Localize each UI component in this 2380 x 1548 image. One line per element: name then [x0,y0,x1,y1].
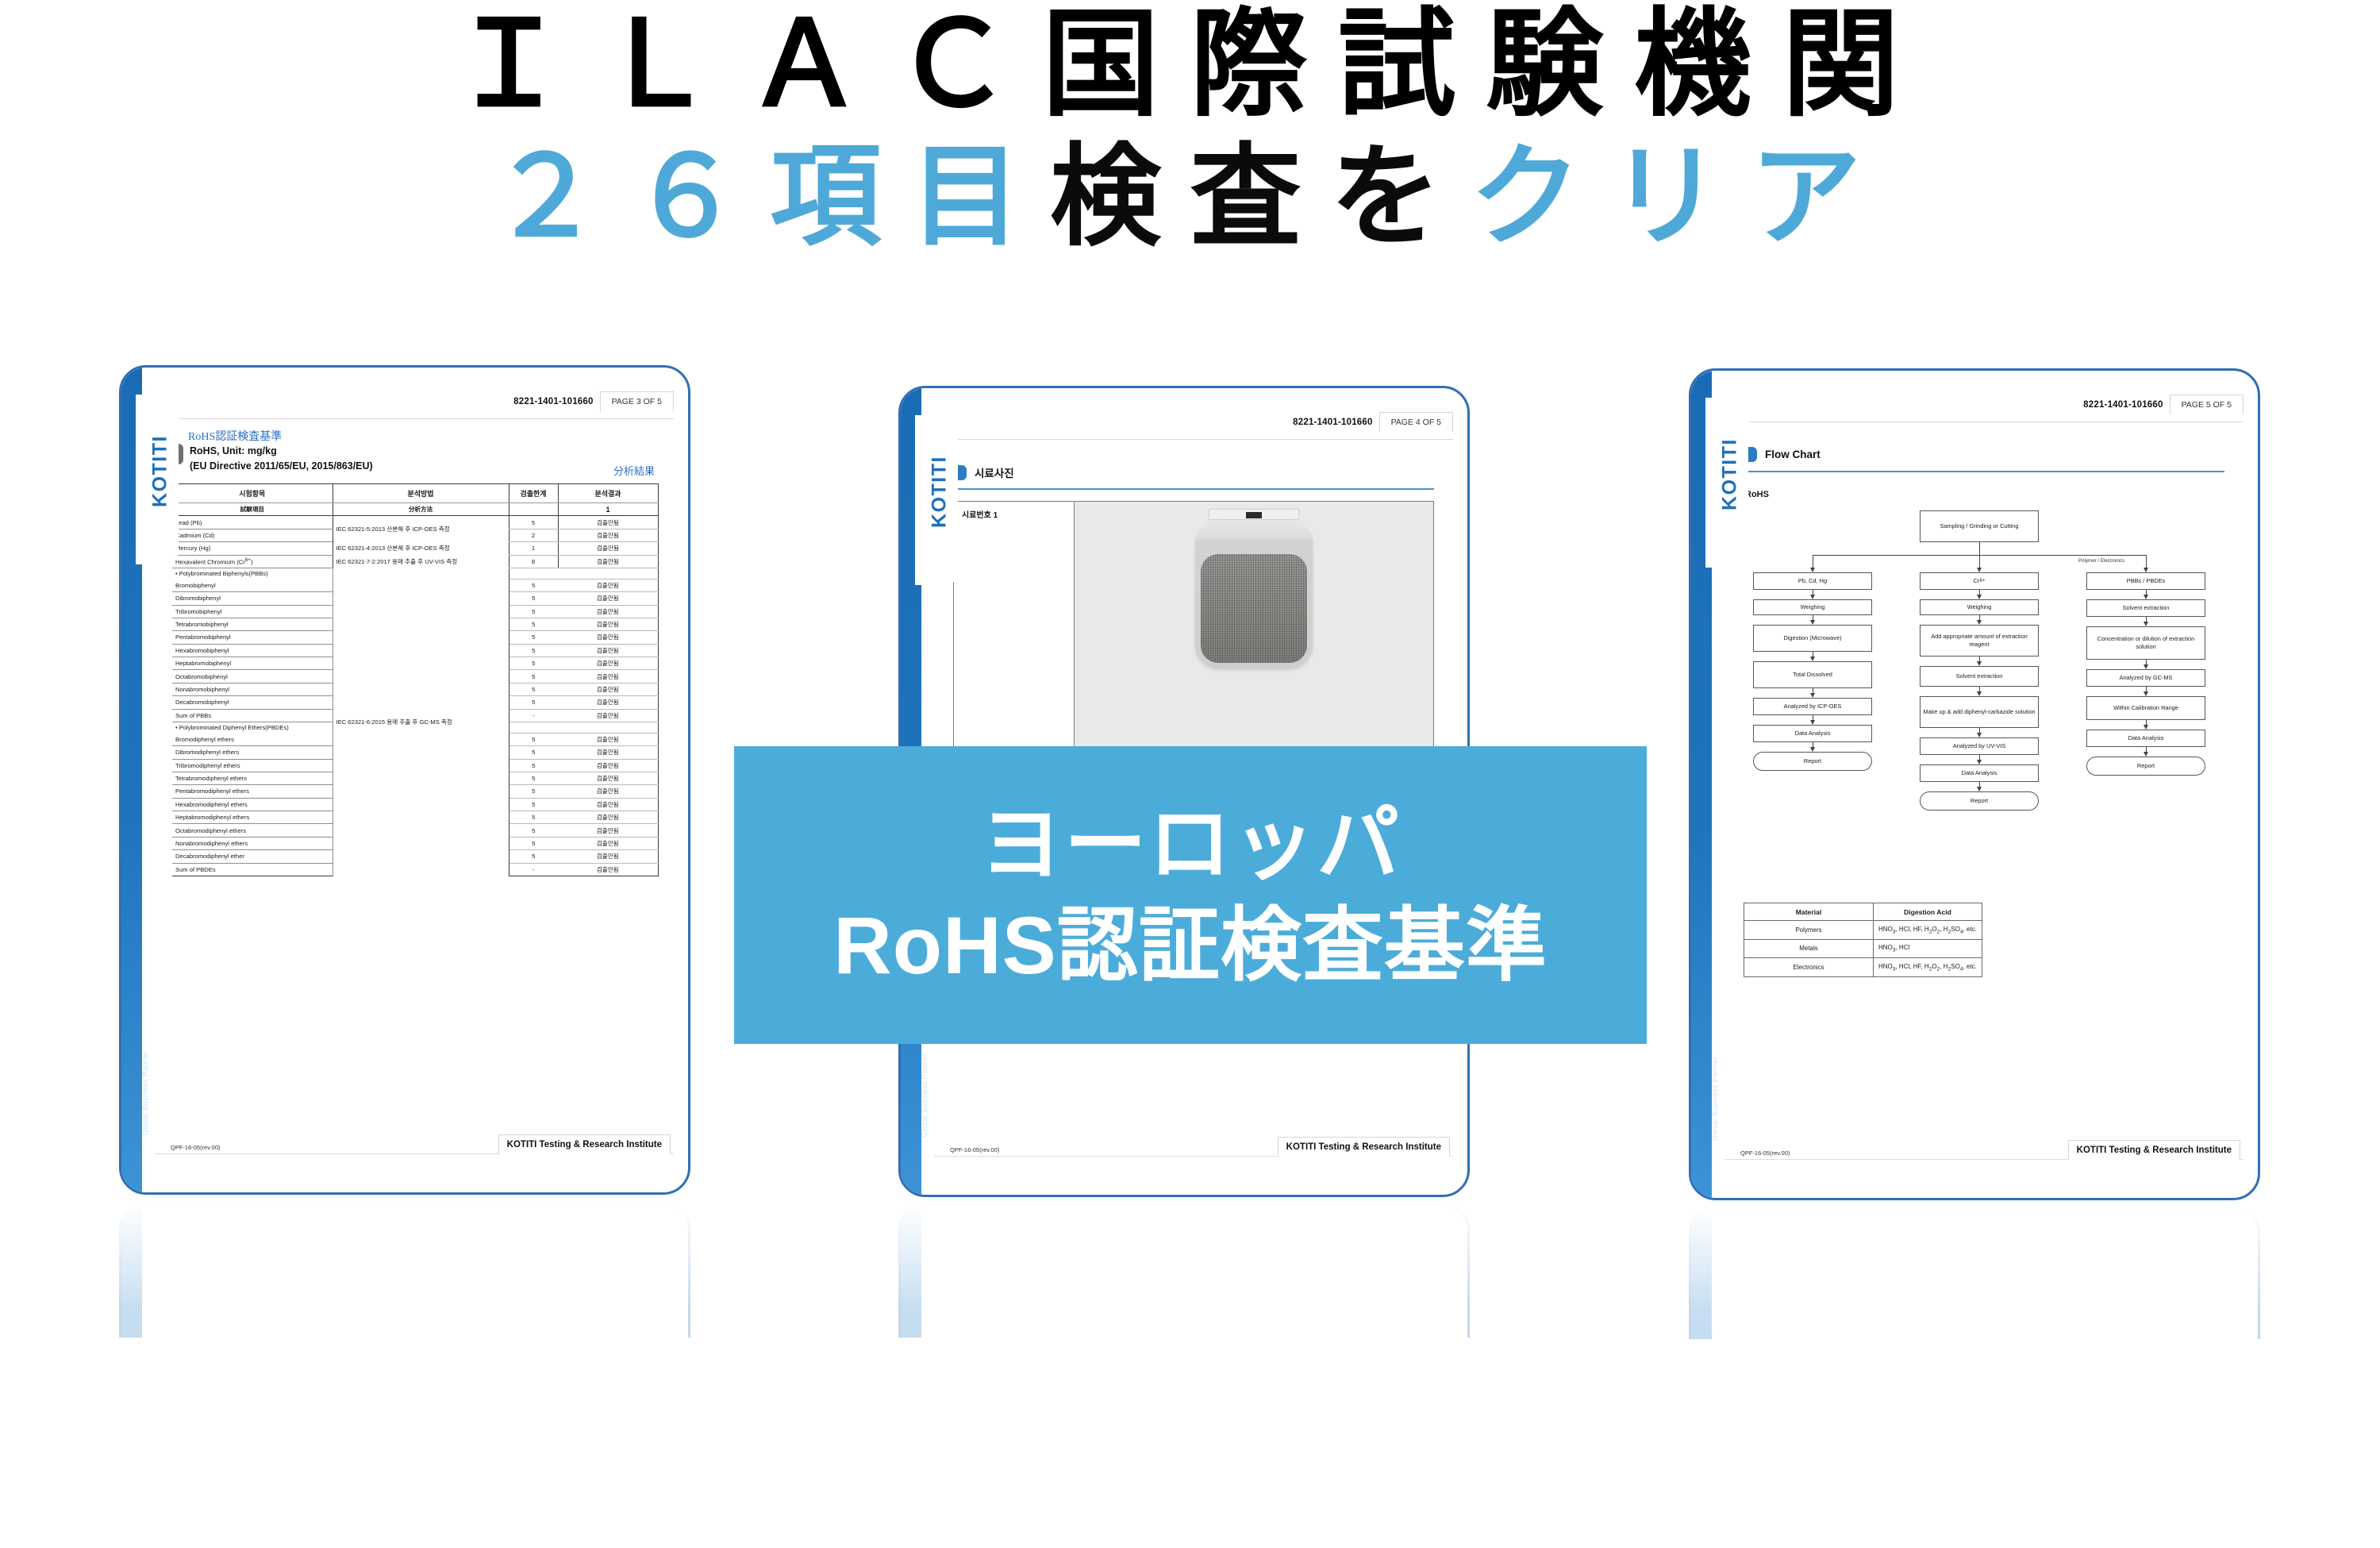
cell-detection-limit: 2 [509,529,558,541]
doc1-reflection-form-code: QPF-16-05(rev.00) [171,1501,220,1508]
kotiti-logo: KOTITI [1719,401,1742,549]
doc3-institute-name: KOTITI Testing & Research Institute [2068,1140,2240,1160]
kotiti-logo: KOTITI [149,398,172,545]
doc2-reflection-spine-label: Global Business Partner [921,1371,929,1466]
flow-box-c2-3: Analyzed by GC-MS [2086,669,2205,687]
cell-test-item: Octabromodiphenyl ethers [172,824,333,837]
flow-line-branch-0 [1813,555,1813,568]
cell-detection-limit: - [509,709,558,722]
cell-material: Polymers [1744,921,1874,940]
doc3-header-rule [1724,422,2244,422]
doc2-reflection-card: Global Business Partner QPF-16-05(rev.00… [898,1203,1470,1544]
cell-detection-limit: 5 [509,696,558,709]
cell-test-item: Tribromodiphenyl ethers [172,759,333,772]
doc3-scheme-label: RoHS [1745,490,1769,499]
doc2-report-number: 8221-1401-101660 [1293,414,1378,431]
doc2-section-header: 시료사진 [953,464,1014,480]
cell-analysis-result: 검출안됨 [558,759,658,772]
acid-col-acid: Digestion Acid [1874,903,1982,921]
doc1-page: 8221-1401-101660 PAGE 3 OF 5 RoHS認証検査基準 … [142,368,688,1192]
flow-box-c0-1: Weighing [1753,599,1872,615]
cell-test-item: Nonabromodiphenyl ethers [172,837,333,849]
cell-detection-limit: 5 [509,798,558,811]
cell-test-item: Mercury (Hg) [172,542,333,555]
flow-box-c1-3: Solvent extraction [1920,666,2039,687]
cell-detection-limit: 5 [509,579,558,591]
headline-26-items: ２６項目 [490,134,1050,259]
cell-analysis-result: 검출안됨 [558,772,658,784]
cell-analysis-result: 검출안됨 [558,529,658,541]
doc1-institute-name: KOTITI Testing & Research Institute [498,1134,671,1154]
digestion-acid-table: Material Digestion Acid PolymersHNO3, HC… [1744,903,1982,977]
doc1-form-code: QPF-16-05(rev.00) [171,1144,220,1151]
cell-detection-limit: 5 [509,759,558,772]
sample-number-label: 시료번호 1 [954,502,1075,780]
doc1-unit-info: RoHS, Unit: mg/kg (EU Directive 2011/65/… [190,444,373,474]
flow-box-c1-6: Data Analysis [1920,764,2039,782]
cell-method: IEC 62321-4:2013 산분해 후 ICP-OES 측정 [333,542,509,555]
flow-line-branch-2 [2146,555,2147,568]
cell-analysis-result: 검출안됨 [558,644,658,657]
flow-box-c2-2: Concentration or dilution of extraction … [2086,626,2205,660]
flow-box-c1-1: Weighing [1920,599,2039,615]
flow-box-c1-0: Cr6+ [1920,572,2039,590]
cell-detection-limit: 5 [509,592,558,605]
group-label-pbde: • Polybrominated Diphenyl Ethers(PBDEs) [172,722,333,733]
cell-test-item: Pentabromodiphenyl ethers [172,785,333,798]
cell-detection-limit: 1 [509,542,558,555]
cell-material: Electronics [1744,958,1874,977]
cell-test-item: Heptabromodiphenyl ethers [172,811,333,824]
cell-test-item: Dibromobiphenyl [172,592,333,605]
table-header-row: 시험항목 분석방법 검출한계 분석결과 [172,484,658,503]
cell-test-item: Pentabromobiphenyl [172,631,333,644]
cell-analysis-result: 검출안됨 [558,670,658,683]
cell-test-item: Dibromodiphenyl ethers [172,746,333,759]
cell-detection-limit [509,722,558,733]
cell-test-item: Bromobiphenyl [172,579,333,591]
doc2-reflection-institute: KOTITI Testing & Research Institute [1278,1494,1450,1513]
cell-analysis-result: 검출안됨 [558,798,658,811]
cell-detection-limit: 5 [509,785,558,798]
doc1-reflection-spine: Global Business Partner [121,1205,142,1542]
doc2-section-rule [953,488,1434,490]
doc1-jp-title: RoHS認証検査基準 [188,428,282,444]
flow-box-c0-4: Analyzed by ICP-OES [1753,698,1872,715]
doc1-reflection: Global Business Partner QPF-16-05(rev.00… [119,1203,690,1338]
cell-analysis-result: 검출안됨 [558,863,658,876]
cell-detection-limit: 5 [509,631,558,644]
sample-specimen-image [1195,521,1313,668]
cell-analysis-result: 검출안됨 [558,657,658,670]
flow-box-c0-0: Pb, Cd, Hg [1753,572,1872,590]
cell-analysis-result: 검출안됨 [558,709,658,722]
cell-detection-limit: 5 [509,670,558,683]
cell-test-item: Nonabromobiphenyl [172,683,333,695]
doc2-page-of: PAGE 4 OF 5 [1379,412,1453,432]
acid-table-row: MetalsHNO3, HCl [1744,939,1982,958]
cell-test-item: Lead (Pb) [172,516,333,529]
col-header-item: 시험항목 [172,484,333,503]
doc3-page: 8221-1401-101660 PAGE 5 OF 5 Flow Chart … [1712,371,2258,1198]
rohs-results-table: 시험항목 분석방법 검출한계 분석결과 試験項目 分析方法 1 Lead (Pb… [172,483,659,876]
flow-box-start: Sampling / Grinding or Cutting [1920,510,2039,542]
doc2-institute-name: KOTITI Testing & Research Institute [1278,1137,1450,1157]
table-header-row-jp: 試験項目 分析方法 1 [172,503,658,516]
flow-box-c1-7: Report [1920,791,2039,811]
doc3-reflection-spine: Global Business Partner [1691,1209,1712,1546]
cell-test-item: Hexavalent Chromium (Cr6+) [172,555,333,568]
sample-number-header: 1 [558,503,658,516]
sample-photo: 82211401101660 [1075,502,1433,780]
doc3-report-number: 8221-1401-101660 [2083,396,2169,414]
cell-test-item: Octabromobiphenyl [172,670,333,683]
headline-line-1: ＩＬＡＣ国際試験機関 [0,6,2380,124]
flow-box-c2-5: Data Analysis [2086,730,2205,747]
doc3-section-header: Flow Chart [1744,447,1821,462]
doc1-unit-line1: RoHS, Unit: mg/kg [190,444,373,459]
cell-detection-limit: 5 [509,644,558,657]
flow-box-c2-4: Within Calibration Range [2086,696,2205,720]
flow-box-c1-5: Analyzed by UV-VIS [1920,737,2039,755]
cell-method: IEC 62321-5:2013 산분해 후 ICP-OES 측정 [333,516,509,542]
headline-block: ＩＬＡＣ国際試験機関 ２６項目検査をクリア [0,0,2380,252]
cell-detection-limit: 5 [509,837,558,849]
cell-test-item: Sum of PBDEs [172,863,333,876]
flow-box-c2-0: PBBs / PBDEs [2086,572,2205,590]
doc2-reflection-form-code: QPF-16-05(rev.00) [950,1501,999,1508]
cell-test-item: Tetrabromobiphenyl [172,618,333,630]
flow-box-c1-2: Add appropriate amount of extraction rea… [1920,625,2039,657]
doc3-reflection-card: Global Business Partner QPF-16-05(rev.00… [1689,1207,2260,1548]
doc2-header-rule [934,439,1453,440]
cell-analysis-result: 검출안됨 [558,696,658,709]
cell-analysis-result: 검출안됨 [558,555,658,568]
rohs-flow-chart: Sampling / Grinding or CuttingPolymer / … [1739,510,2239,884]
sample-photo-frame: 시료번호 1 82211401101660 [953,501,1434,780]
cell-detection-limit: 5 [509,772,558,784]
cell-method-pbb: IEC 62321-6:2015 용매 추출 후 GC-MS 측정 [333,568,509,876]
doc1-analysis-result-jp: 分析結果 [613,463,655,478]
cell-detection-limit: 5 [509,618,558,630]
cell-analysis-result: 검출안됨 [558,516,658,529]
doc1-page-header: 8221-1401-101660 PAGE 3 OF 5 [513,391,674,411]
doc3-section-title: Flow Chart [1765,449,1821,460]
table-row: Lead (Pb)IEC 62321-5:2013 산분해 후 ICP-OES … [172,516,658,529]
acid-table-row: ElectronicsHNO3, HCl, HF, H2O2, H2SO4, e… [1744,958,1982,977]
col-header-method: 분석방법 [333,484,509,503]
doc1-reflection-card: Global Business Partner QPF-16-05(rev.00… [119,1203,690,1544]
headline-inspection: 検査を [1050,134,1470,259]
cell-test-item: Decabromodiphenyl ether [172,850,333,863]
doc2-reflection-rule [934,1493,1453,1494]
doc2-page-header: 8221-1401-101660 PAGE 4 OF 5 [1293,412,1453,432]
col-header-result: 분석결과 [558,484,658,503]
cell-detection-limit: 5 [509,811,558,824]
cell-analysis-result [558,568,658,579]
cell-digestion-acid: HNO3, HCl, HF, H2O2, H2SO4, etc. [1874,921,1982,940]
cell-digestion-acid: HNO3, HCl, HF, H2O2, H2SO4, etc. [1874,958,1982,977]
col-header-limit: 검출한계 [509,484,558,503]
cell-test-item: Hexabromobiphenyl [172,644,333,657]
doc1-reflection-institute: KOTITI Testing & Research Institute [498,1494,671,1513]
col-header-limit-jp [509,503,558,516]
report-page-3-card[interactable]: Global Business Partner KOTITI 8221-1401… [119,365,690,1195]
table-group-row: • Polybrominated Biphenyls(PBBs)IEC 6232… [172,568,658,579]
doc3-logo-tab: KOTITI [1705,398,1748,568]
doc3-reflection-institute: KOTITI Testing & Research Institute [2068,1498,2240,1517]
flow-box-c0-3: Total Dissolved [1753,661,1872,688]
kotiti-logo: KOTITI [929,418,952,566]
cell-detection-limit: 5 [509,657,558,670]
doc3-page-header: 8221-1401-101660 PAGE 5 OF 5 [2083,395,2244,414]
overlay-banner: ヨーロッパ RoHS認証検査基準 [734,746,1647,1044]
flow-box-c2-1: Solvent extraction [2086,599,2205,617]
flow-line-start-down [1979,542,1980,555]
cell-detection-limit: 5 [509,605,558,618]
doc1-report-number: 8221-1401-101660 [513,393,599,410]
cell-analysis-result: 검출안됨 [558,785,658,798]
cell-detection-limit: 5 [509,733,558,745]
flow-box-c2-6: Report [2086,757,2205,776]
acid-table-row: PolymersHNO3, HCl, HF, H2O2, H2SO4, etc. [1744,921,1982,940]
cell-test-item: Tribromobiphenyl [172,605,333,618]
cell-detection-limit: 5 [509,516,558,529]
cell-detection-limit: 5 [509,683,558,695]
acid-header-row: Material Digestion Acid [1744,903,1982,921]
cell-material: Metals [1744,939,1874,958]
flow-line-branch-1 [1979,555,1980,568]
cell-analysis-result: 검출안됨 [558,837,658,849]
doc3-form-code: QPF-16-05(rev.00) [1740,1149,1790,1157]
cell-analysis-result: 검출안됨 [558,592,658,605]
cell-detection-limit: 5 [509,850,558,863]
doc2-reflection: Global Business Partner QPF-16-05(rev.00… [898,1203,1470,1338]
cell-test-item: Tetrabromodiphenyl ethers [172,772,333,784]
cell-detection-limit: - [509,863,558,876]
flow-box-c0-6: Report [1753,752,1872,771]
table-row: Hexavalent Chromium (Cr6+)IEC 62321-7-2:… [172,555,658,568]
cell-test-item: Bromodiphenyl ethers [172,733,333,745]
doc1-unit-line2: (EU Directive 2011/65/EU, 2015/863/EU) [190,459,373,474]
cell-analysis-result: 검출안됨 [558,618,658,630]
acid-col-material: Material [1744,903,1874,921]
cell-test-item: Sum of PBBs [172,709,333,722]
cell-analysis-result: 검출안됨 [558,733,658,745]
table-row: Mercury (Hg)IEC 62321-4:2013 산분해 후 ICP-O… [172,542,658,555]
doc1-reflection-spine-label: Global Business Partner [141,1371,149,1466]
cell-detection-limit: 5 [509,824,558,837]
report-page-5-card[interactable]: Global Business Partner KOTITI 8221-1401… [1689,368,2260,1200]
col-header-item-jp: 試験項目 [172,503,333,516]
flow-box-c1-4: Make up & add diphenyl-carbazide solutio… [1920,696,2039,728]
doc1-header-rule [155,418,674,419]
col-header-method-jp: 分析方法 [333,503,509,516]
cell-analysis-result: 검출안됨 [558,850,658,863]
cell-test-item: Hexabromodiphenyl ethers [172,798,333,811]
cell-analysis-result: 검출안됨 [558,683,658,695]
doc3-reflection: Global Business Partner QPF-16-05(rev.00… [1689,1207,2260,1339]
doc3-reflection-rule [1724,1497,2244,1498]
cell-test-item: Cadmium (Cd) [172,529,333,541]
headline-clear: クリア [1470,134,1890,259]
doc3-section-rule [1744,471,2224,472]
doc1-logo-tab: KOTITI [136,395,179,564]
cell-test-item: Heptabromobiphenyl [172,657,333,670]
flow-box-c0-5: Data Analysis [1753,725,1872,742]
banner-line-1: ヨーロッパ [980,801,1401,888]
doc2-logo-tab: KOTITI [915,415,958,585]
cell-analysis-result: 검출안됨 [558,811,658,824]
flow-box-c0-2: Digestion (Microwave) [1753,625,1872,652]
cell-analysis-result: 검출안됨 [558,579,658,591]
doc2-reflection-spine: Global Business Partner [901,1205,921,1542]
cell-test-item: Decabromobiphenyl [172,696,333,709]
cell-analysis-result: 검출안됨 [558,631,658,644]
doc3-page-of: PAGE 5 OF 5 [2170,395,2244,414]
cell-detection-limit [509,568,558,579]
cell-analysis-result [558,722,658,733]
cell-analysis-result: 검출안됨 [558,542,658,555]
doc1-reflection-rule [155,1493,674,1494]
cell-detection-limit: 8 [509,555,558,568]
cell-analysis-result: 검출안됨 [558,746,658,759]
doc3-reflection-form-code: QPF-16-05(rev.00) [1740,1505,1790,1512]
group-label-pbb: • Polybrominated Biphenyls(PBBs) [172,568,333,579]
cell-method: IEC 62321-7-2:2017 용매 추출 후 UV-VIS 측정 [333,555,509,568]
flow-branch-note: Polymer / Electronics [2078,558,2124,564]
doc1-page-of: PAGE 3 OF 5 [600,391,674,411]
cell-analysis-result: 검출안됨 [558,824,658,837]
cell-analysis-result: 검출안됨 [558,605,658,618]
doc3-reflection-spine-label: Global Business Partner [1711,1375,1719,1470]
headline-line-2: ２６項目検査をクリア [0,141,2380,252]
doc2-form-code: QPF-16-05(rev.00) [950,1146,999,1153]
cell-detection-limit: 5 [509,746,558,759]
color-swatch-icon [1209,509,1299,520]
doc2-section-title: 시료사진 [975,464,1014,480]
cell-digestion-acid: HNO3, HCl [1874,939,1982,958]
banner-line-2: RoHS認証検査基準 [833,902,1548,989]
